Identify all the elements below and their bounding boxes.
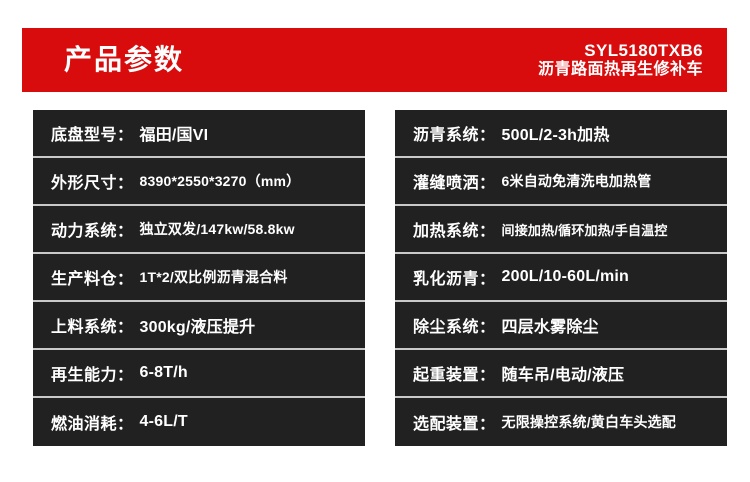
spec-label: 除尘系统： <box>413 313 496 337</box>
spec-value: 1T*2/双比例沥青混合料 <box>140 267 288 287</box>
spec-row: 灌缝喷洒： 6米自动免清洗电加热管 <box>395 158 727 206</box>
spec-value: 四层水雾除尘 <box>502 313 599 337</box>
spec-row: 起重装置： 随车吊/电动/液压 <box>395 350 727 398</box>
spec-row: 燃油消耗： 4-6L/T <box>33 398 365 446</box>
spec-value: 福田/国VI <box>140 121 209 145</box>
spec-label: 乳化沥青： <box>413 265 496 289</box>
spec-label: 燃油消耗： <box>51 410 134 434</box>
spec-label: 沥青系统： <box>413 121 496 145</box>
model-code: SYL5180TXB6 <box>584 41 703 61</box>
spec-value: 6米自动免清洗电加热管 <box>502 171 652 191</box>
spec-label: 加热系统： <box>413 217 496 241</box>
header-banner: 产品参数 SYL5180TXB6 沥青路面热再生修补车 <box>22 28 727 92</box>
spec-table: 底盘型号： 福田/国VI 外形尺寸： 8390*2550*3270（mm） 动力… <box>33 110 727 446</box>
spec-row: 生产料仓： 1T*2/双比例沥青混合料 <box>33 254 365 302</box>
spec-value: 随车吊/电动/液压 <box>502 361 625 385</box>
spec-row: 底盘型号： 福田/国VI <box>33 110 365 158</box>
spec-label: 底盘型号： <box>51 121 134 145</box>
spec-row: 外形尺寸： 8390*2550*3270（mm） <box>33 158 365 206</box>
spec-row: 上料系统： 300kg/液压提升 <box>33 302 365 350</box>
spec-value: 8390*2550*3270（mm） <box>140 171 301 191</box>
spec-row: 动力系统： 独立双发/147kw/58.8kw <box>33 206 365 254</box>
spec-value: 6-8T/h <box>140 364 188 382</box>
spec-label: 起重装置： <box>413 361 496 385</box>
spec-label: 再生能力： <box>51 361 134 385</box>
spec-value: 4-6L/T <box>140 413 188 431</box>
spec-row: 沥青系统： 500L/2-3h加热 <box>395 110 727 158</box>
spec-row: 乳化沥青： 200L/10-60L/min <box>395 254 727 302</box>
spec-label: 灌缝喷洒： <box>413 169 496 193</box>
page-title: 产品参数 <box>64 46 184 74</box>
model-info: SYL5180TXB6 沥青路面热再生修补车 <box>538 41 703 79</box>
spec-column-right: 沥青系统： 500L/2-3h加热 灌缝喷洒： 6米自动免清洗电加热管 加热系统… <box>395 110 727 446</box>
spec-label: 生产料仓： <box>51 265 134 289</box>
spec-value: 200L/10-60L/min <box>502 268 630 286</box>
spec-value: 无限操控系统/黄白车头选配 <box>502 412 677 432</box>
spec-value: 独立双发/147kw/58.8kw <box>140 219 295 239</box>
product-spec-sheet: 产品参数 SYL5180TXB6 沥青路面热再生修补车 底盘型号： 福田/国VI… <box>0 0 750 482</box>
spec-label: 动力系统： <box>51 217 134 241</box>
spec-row: 除尘系统： 四层水雾除尘 <box>395 302 727 350</box>
spec-value: 间接加热/循环加热/手自温控 <box>502 220 668 239</box>
spec-label: 选配装置： <box>413 410 496 434</box>
spec-row: 选配装置： 无限操控系统/黄白车头选配 <box>395 398 727 446</box>
spec-row: 加热系统： 间接加热/循环加热/手自温控 <box>395 206 727 254</box>
spec-label: 上料系统： <box>51 313 134 337</box>
model-name: 沥青路面热再生修补车 <box>538 61 703 79</box>
spec-label: 外形尺寸： <box>51 169 134 193</box>
spec-value: 500L/2-3h加热 <box>502 121 610 145</box>
spec-row: 再生能力： 6-8T/h <box>33 350 365 398</box>
spec-value: 300kg/液压提升 <box>140 313 256 337</box>
spec-column-left: 底盘型号： 福田/国VI 外形尺寸： 8390*2550*3270（mm） 动力… <box>33 110 365 446</box>
